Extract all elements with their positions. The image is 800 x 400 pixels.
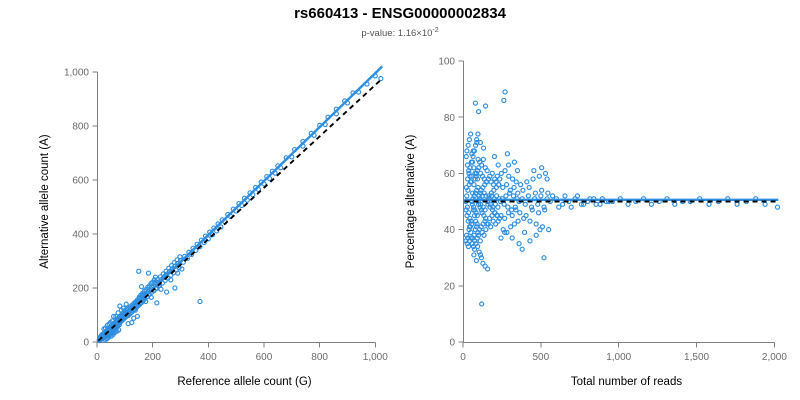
page-title: rs660413 - ENSG00000002834	[294, 5, 506, 22]
right-x-axis-title: Total number of reads	[571, 376, 682, 388]
right-y-tick-label: 60	[444, 169, 456, 180]
right-x-tick-label: 1,000	[606, 352, 631, 363]
left-y-axis-title: Alternative allele count (A)	[39, 134, 51, 268]
p-value-exponent: -2	[432, 27, 438, 34]
left-y-tick-label: 200	[72, 284, 89, 295]
right-y-tick-label: 40	[444, 225, 456, 236]
left-x-tick-label: 200	[144, 352, 161, 363]
left-x-tick-label: 400	[200, 352, 217, 363]
left-y-tick-label: 0	[83, 338, 89, 349]
left-x-tick-label: 800	[311, 352, 328, 363]
right-x-tick-label: 1,500	[684, 352, 709, 363]
left-x-tick-label: 1,000	[363, 352, 388, 363]
right-y-tick-label: 80	[444, 113, 456, 124]
left-y-tick-label: 1,000	[64, 67, 89, 78]
p-value-subtitle: p-value: 1.16×10-2	[361, 27, 438, 39]
left-x-tick-label: 0	[94, 352, 100, 363]
right-x-tick-label: 500	[533, 352, 550, 363]
right-y-axis-title: Percentage alternative (A)	[405, 135, 417, 269]
left-y-tick-label: 600	[72, 175, 89, 186]
p-value-text: p-value: 1.16×10	[361, 28, 432, 39]
right-y-tick-label: 0	[449, 338, 455, 349]
right-x-tick-label: 0	[460, 352, 466, 363]
figure-canvas: rs660413 - ENSG00000002834 p-value: 1.16…	[0, 0, 800, 400]
left-y-tick-label: 400	[72, 230, 89, 241]
right-x-tick-label: 2,000	[762, 352, 787, 363]
left-x-axis-title: Reference allele count (G)	[177, 376, 311, 388]
right-y-tick-label: 100	[438, 57, 455, 68]
right-y-tick-label: 20	[444, 281, 456, 292]
left-x-tick-label: 600	[256, 352, 273, 363]
left-y-tick-label: 800	[72, 121, 89, 132]
